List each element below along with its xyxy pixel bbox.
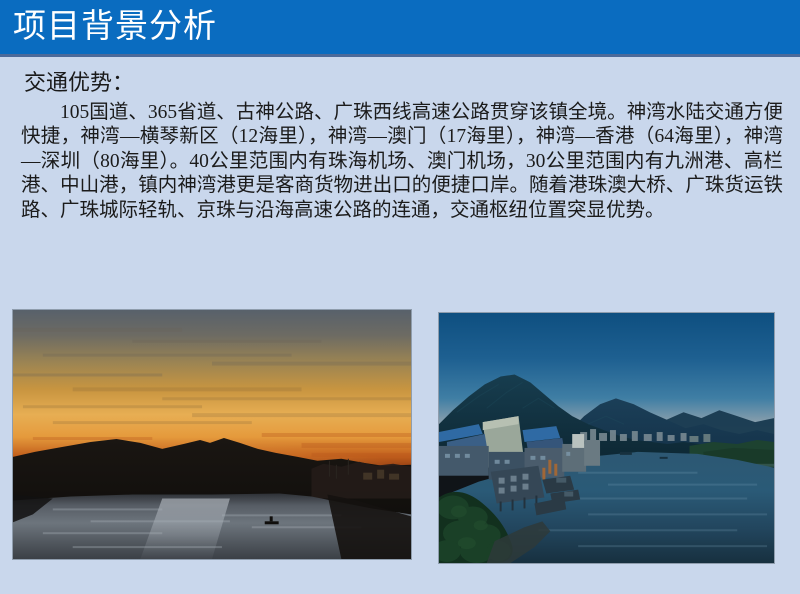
sunset-river-photo-canvas [13, 310, 411, 559]
slide-body: 交通优势： 105国道、365省道、古神公路、广珠西线高速公路贯穿该镇全境。神湾… [0, 60, 800, 294]
body-paragraph: 105国道、365省道、古神公路、广珠西线高速公路贯穿该镇全境。神湾水陆交通方便… [21, 101, 783, 223]
slide-title-bar: 项目背景分析 [0, 0, 800, 57]
section-subheading: 交通优势： [24, 69, 134, 97]
sunset-river-photo [12, 309, 412, 560]
river-port-dusk-photo [438, 312, 775, 564]
river-port-dusk-photo-canvas [439, 313, 774, 563]
page-title: 项目背景分析 [13, 3, 217, 51]
